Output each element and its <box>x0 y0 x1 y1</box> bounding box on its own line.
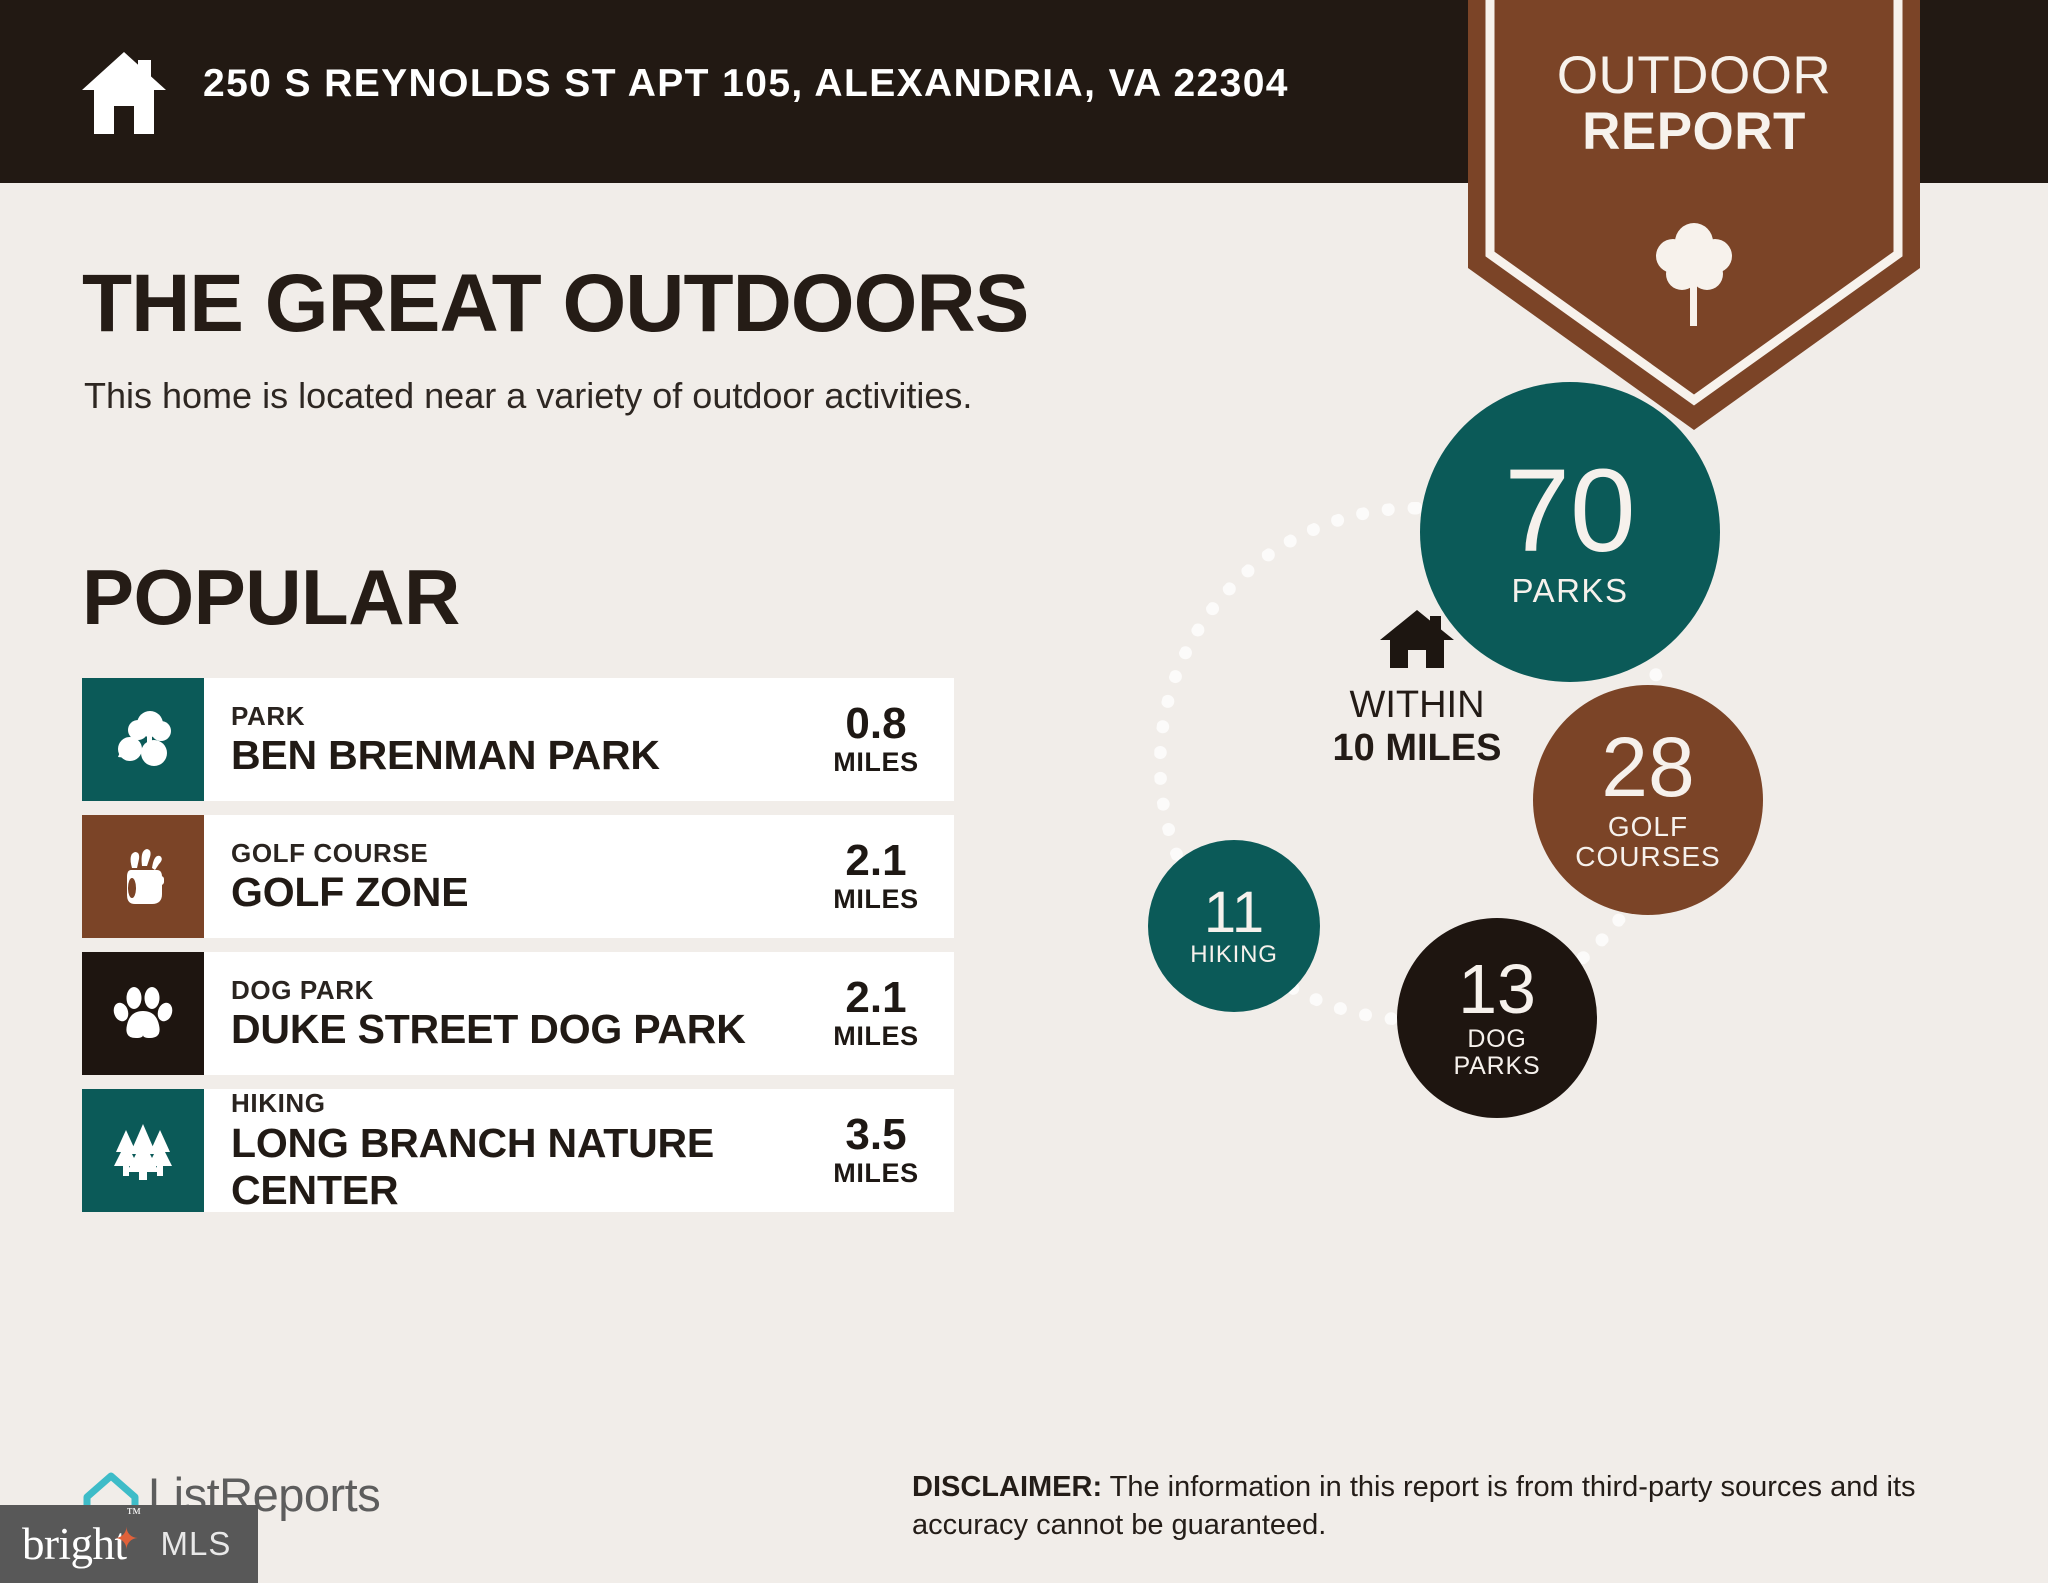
badge-title: OUTDOOR REPORT <box>1468 48 1920 159</box>
stat-label-line2: PARKS <box>1454 1053 1541 1080</box>
page-title: THE GREAT OUTDOORS <box>82 257 1028 351</box>
stat-label: HIKING <box>1190 942 1277 968</box>
golf-bag-icon <box>82 815 204 938</box>
list-item-distance: 2.1 MILES <box>816 952 954 1075</box>
list-item-distance: 0.8 MILES <box>816 678 954 801</box>
popular-heading: POPULAR <box>82 552 460 643</box>
home-icon <box>1378 608 1456 670</box>
bright-wordmark: bright ✦ ™ <box>22 1518 127 1570</box>
paw-print-icon <box>82 952 204 1075</box>
stat-value: 70 <box>1504 455 1635 567</box>
list-item[interactable]: GOLF COURSE GOLF ZONE 2.1 MILES <box>82 815 954 938</box>
stat-value: 13 <box>1458 956 1536 1023</box>
tree-icon <box>1653 218 1735 328</box>
bright-mls-watermark: bright ✦ ™ MLS <box>0 1505 258 1583</box>
list-item-name: GOLF ZONE <box>231 869 816 916</box>
distance-unit: MILES <box>833 747 919 778</box>
list-item-name: LONG BRANCH NATURE CENTER <box>231 1120 816 1214</box>
stat-label-line1: DOG <box>1467 1026 1526 1053</box>
list-item-category: HIKING <box>231 1087 816 1120</box>
stat-bubble-hiking[interactable]: 11 HIKING <box>1148 840 1320 1012</box>
mls-text: MLS <box>161 1525 232 1563</box>
disclaimer-label: DISCLAIMER: <box>912 1471 1102 1503</box>
bright-text: bright <box>22 1519 127 1569</box>
list-item-text: PARK BEN BRENMAN PARK <box>204 678 816 801</box>
park-trees-icon <box>82 678 204 801</box>
list-item-name: BEN BRENMAN PARK <box>231 732 816 779</box>
list-item-category: GOLF COURSE <box>231 837 816 870</box>
list-item-category: DOG PARK <box>231 974 816 1007</box>
badge-title-line2: REPORT <box>1468 104 1920 160</box>
within-10-miles-diagram: WITHIN 10 MILES 70 PARKS 28 GOLF COURSES… <box>1070 440 1970 1240</box>
distance-value: 2.1 <box>845 975 906 1021</box>
home-icon <box>78 48 170 136</box>
distance-unit: MILES <box>833 1158 919 1189</box>
disclaimer: DISCLAIMER: The information in this repo… <box>912 1468 1992 1545</box>
center-line-1: WITHIN <box>1292 684 1542 727</box>
list-item-text: HIKING LONG BRANCH NATURE CENTER <box>204 1089 816 1212</box>
star-icon: ✦ <box>114 1522 139 1557</box>
stat-value: 11 <box>1204 885 1264 940</box>
page-subtitle: This home is located near a variety of o… <box>84 375 972 417</box>
list-item[interactable]: PARK BEN BRENMAN PARK 0.8 MILES <box>82 678 954 801</box>
list-item-distance: 3.5 MILES <box>816 1089 954 1212</box>
outdoor-report-page: 250 S REYNOLDS ST APT 105, ALEXANDRIA, V… <box>0 0 2048 1583</box>
trademark-symbol: ™ <box>126 1506 140 1523</box>
outdoor-report-badge: OUTDOOR REPORT <box>1468 0 1920 430</box>
stat-bubble-golf-courses[interactable]: 28 GOLF COURSES <box>1533 685 1763 915</box>
stat-label: PARKS <box>1512 573 1629 609</box>
distance-value: 2.1 <box>845 838 906 884</box>
popular-list: PARK BEN BRENMAN PARK 0.8 MILES <box>82 678 954 1226</box>
list-item[interactable]: DOG PARK DUKE STREET DOG PARK 2.1 MILES <box>82 952 954 1075</box>
property-address: 250 S REYNOLDS ST APT 105, ALEXANDRIA, V… <box>203 62 1289 106</box>
list-item-text: DOG PARK DUKE STREET DOG PARK <box>204 952 816 1075</box>
stat-label-line1: GOLF <box>1608 812 1688 842</box>
badge-title-line1: OUTDOOR <box>1468 48 1920 104</box>
pine-trees-icon <box>82 1089 204 1212</box>
stat-label-line2: COURSES <box>1575 842 1720 872</box>
list-item[interactable]: HIKING LONG BRANCH NATURE CENTER 3.5 MIL… <box>82 1089 954 1212</box>
distance-unit: MILES <box>833 1021 919 1052</box>
distance-value: 0.8 <box>845 701 906 747</box>
list-item-text: GOLF COURSE GOLF ZONE <box>204 815 816 938</box>
list-item-category: PARK <box>231 700 816 733</box>
stat-bubble-dog-parks[interactable]: 13 DOG PARKS <box>1397 918 1597 1118</box>
stat-value: 28 <box>1601 728 1694 808</box>
distance-value: 3.5 <box>845 1112 906 1158</box>
distance-unit: MILES <box>833 884 919 915</box>
list-item-distance: 2.1 MILES <box>816 815 954 938</box>
center-line-2: 10 MILES <box>1292 727 1542 770</box>
list-item-name: DUKE STREET DOG PARK <box>231 1006 816 1053</box>
